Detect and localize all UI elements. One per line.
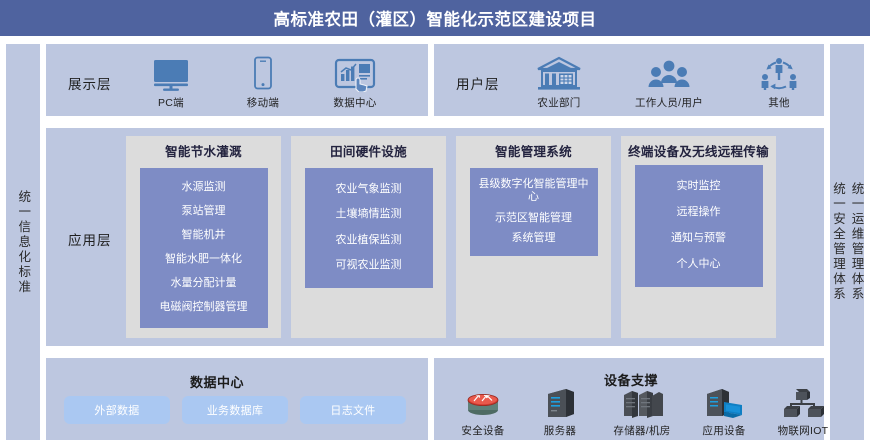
presentation-item-pc-label: PC端: [158, 95, 184, 110]
data-center-box-external[interactable]: 外部数据: [64, 396, 170, 424]
app-panel-field-hardware: 田间硬件设施 农业气象监测 土壤墒情监测 农业植保监测 可视农业监测: [291, 136, 446, 338]
people-group-icon: [646, 58, 692, 92]
user-layer-label: 用户层: [456, 73, 500, 93]
page-title: 高标准农田（灌区）智能化示范区建设项目: [274, 6, 597, 30]
app-item[interactable]: 农业气象监测: [334, 180, 404, 199]
user-item-agri-dept[interactable]: 农业部门: [518, 56, 600, 110]
device-item-iot[interactable]: 物联网IOT: [770, 386, 836, 438]
device-item-application[interactable]: 应用设备: [693, 386, 755, 438]
device-item-security-label: 安全设备: [461, 423, 504, 438]
user-item-other[interactable]: 其他: [738, 56, 820, 110]
app-panel-items: 县级数字化智能管理中心 示范区智能管理 系统管理: [470, 168, 598, 256]
right-rail-security-label: 统一安全管理体系: [832, 182, 845, 302]
app-panel-title: 智能节水灌溉: [161, 145, 246, 161]
app-item[interactable]: 水源监测: [180, 178, 228, 197]
device-item-server[interactable]: 服务器: [529, 386, 591, 438]
device-item-security[interactable]: 安全设备: [452, 386, 514, 438]
device-item-server-label: 服务器: [544, 423, 576, 438]
app-item[interactable]: 智能机井: [180, 226, 228, 245]
presentation-layer-icons: PC端 移动端: [140, 52, 386, 110]
user-item-staff-label: 工作人员/用户: [635, 95, 703, 110]
left-rail-standards: 统一信息化标准: [6, 44, 40, 440]
storage-rack-icon: [619, 386, 665, 420]
app-item[interactable]: 示范区智能管理: [493, 209, 574, 228]
device-item-application-label: 应用设备: [702, 423, 745, 438]
app-item[interactable]: 远程操作: [675, 203, 723, 222]
people-cycle-icon: [756, 56, 802, 92]
app-item[interactable]: 系统管理: [510, 229, 558, 248]
app-panel-title: 智能管理系统: [491, 145, 576, 161]
presentation-item-datacenter[interactable]: 数据中心: [324, 58, 386, 110]
app-panel-title: 田间硬件设施: [326, 145, 411, 161]
data-center-boxes: 外部数据 业务数据库 日志文件: [64, 396, 406, 424]
presentation-layer-label: 展示层: [68, 73, 112, 93]
app-panel-smart-irrigation: 智能节水灌溉 水源监测 泵站管理 智能机井 智能水肥一体化 水量分配计量 电磁阀…: [126, 136, 281, 338]
app-panel-items: 实时监控 远程操作 通知与预警 个人中心: [635, 165, 763, 287]
app-item[interactable]: 土壤墒情监测: [334, 205, 404, 224]
user-item-agri-dept-label: 农业部门: [537, 95, 580, 110]
data-center-box-business-db[interactable]: 业务数据库: [182, 396, 288, 424]
presentation-item-mobile-label: 移动端: [247, 95, 279, 110]
app-item[interactable]: 农业植保监测: [334, 231, 404, 250]
monitor-icon: [151, 58, 191, 92]
app-item[interactable]: 个人中心: [675, 255, 723, 274]
right-rail-management: 统一安全管理体系 统一运维管理体系: [830, 44, 864, 440]
data-center-title: 数据中心: [190, 372, 244, 391]
left-rail-label: 统一信息化标准: [17, 190, 30, 295]
app-panel-terminal-transmission: 终端设备及无线远程传输 实时监控 远程操作 通知与预警 个人中心: [621, 136, 776, 338]
app-panel-smart-management: 智能管理系统 县级数字化智能管理中心 示范区智能管理 系统管理: [456, 136, 611, 338]
presentation-item-datacenter-label: 数据中心: [333, 95, 376, 110]
presentation-item-mobile[interactable]: 移动端: [232, 56, 294, 110]
application-layer-label: 应用层: [68, 229, 112, 249]
application-layer-panels: 智能节水灌溉 水源监测 泵站管理 智能机井 智能水肥一体化 水量分配计量 电磁阀…: [126, 136, 776, 338]
tablet-chart-touch-icon: [334, 58, 376, 92]
app-panel-items: 农业气象监测 土壤墒情监测 农业植保监测 可视农业监测: [305, 168, 433, 288]
app-item[interactable]: 实时监控: [675, 177, 723, 196]
government-building-icon: [535, 56, 583, 92]
server-icon: [542, 386, 578, 420]
right-rail-operations-label: 统一运维管理体系: [850, 182, 863, 302]
device-item-storage[interactable]: 存储器/机房: [606, 386, 678, 438]
user-item-staff[interactable]: 工作人员/用户: [628, 58, 710, 110]
app-panel-title: 终端设备及无线远程传输: [624, 145, 773, 161]
presentation-item-pc[interactable]: PC端: [140, 58, 202, 110]
user-layer-icons: 农业部门 工作人员/用户: [518, 52, 820, 110]
device-item-storage-label: 存储器/机房: [613, 423, 670, 438]
app-item[interactable]: 通知与预警: [669, 229, 728, 248]
mobile-phone-icon: [251, 56, 275, 92]
firewall-router-icon: [462, 386, 504, 420]
app-panel-items: 水源监测 泵站管理 智能机井 智能水肥一体化 水量分配计量 电磁阀控制器管理: [140, 168, 268, 328]
device-support-icons: 安全设备 服务器: [452, 386, 836, 438]
application-server-icon: [702, 386, 746, 420]
app-item[interactable]: 智能水肥一体化: [163, 250, 244, 269]
app-item[interactable]: 水量分配计量: [169, 274, 239, 293]
app-item[interactable]: 县级数字化智能管理中心: [472, 175, 596, 207]
page-title-bar: 高标准农田（灌区）智能化示范区建设项目: [0, 0, 870, 36]
iot-network-icon: [782, 386, 824, 420]
device-item-iot-label: 物联网IOT: [778, 423, 829, 438]
architecture-diagram: 高标准农田（灌区）智能化示范区建设项目 统一信息化标准 统一安全管理体系 统一运…: [0, 0, 870, 445]
user-item-other-label: 其他: [768, 95, 790, 110]
data-center-box-log-files[interactable]: 日志文件: [300, 396, 406, 424]
app-item[interactable]: 电磁阀控制器管理: [158, 298, 250, 317]
app-item[interactable]: 泵站管理: [180, 202, 228, 221]
app-item[interactable]: 可视农业监测: [334, 256, 404, 275]
